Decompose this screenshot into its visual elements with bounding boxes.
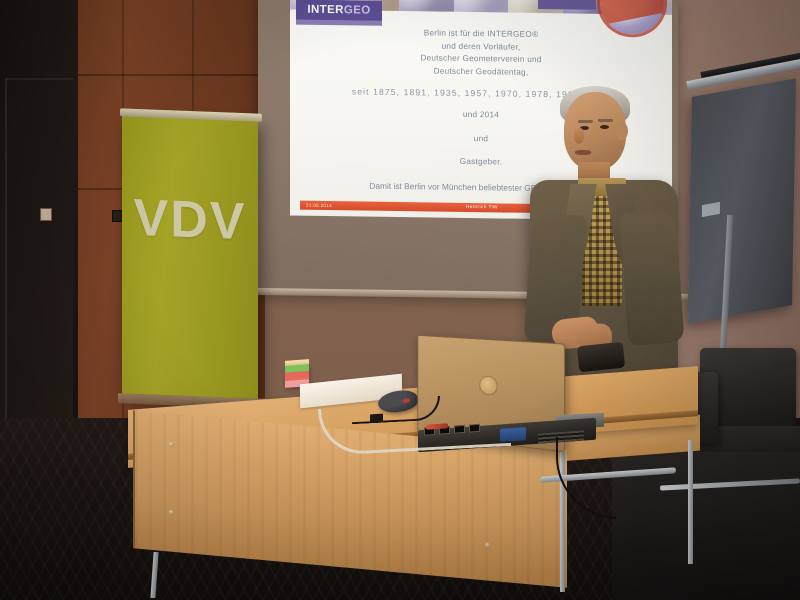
logo-suffix: GEO xyxy=(344,4,371,16)
event-dates-label: 7.-9.10.2014 xyxy=(542,0,592,2)
nose xyxy=(574,128,584,144)
vdv-banner-text: VDV xyxy=(122,187,258,252)
cable-plug xyxy=(370,414,383,423)
light-switch[interactable] xyxy=(40,208,52,221)
door[interactable] xyxy=(5,78,73,440)
ear xyxy=(616,122,628,140)
flipchart-board xyxy=(688,78,796,323)
vdv-rollup-banner: VDV xyxy=(122,115,258,398)
handheld-device xyxy=(577,342,625,373)
arm-right xyxy=(619,210,684,346)
flipchart-label xyxy=(702,202,720,217)
event-date-box: Berlin 7.-9.10.2014 xyxy=(538,0,596,10)
mouth xyxy=(575,150,591,155)
logo-prefix: INTER xyxy=(307,4,344,17)
header-photo-tile xyxy=(399,0,454,12)
dell-logo xyxy=(479,375,497,396)
wall-dark-panel xyxy=(0,0,78,440)
conference-room-scene: Berlin 7.-9.10.2014 INTERGEO Berlin ist … xyxy=(0,0,800,600)
header-photo-tile xyxy=(454,0,509,13)
desk-leg xyxy=(688,440,693,564)
